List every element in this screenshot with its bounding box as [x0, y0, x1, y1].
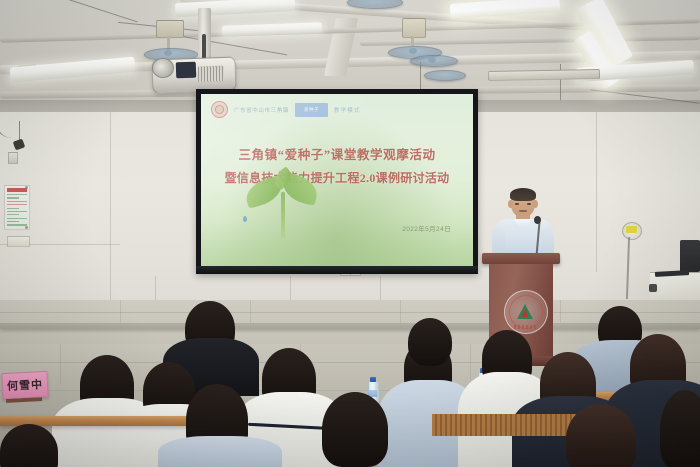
projector-panel	[176, 62, 197, 79]
notice-pin-bottom	[25, 226, 28, 229]
notice-pin-top	[25, 186, 28, 189]
wall-notice-poster	[4, 185, 30, 230]
projection-screen: 广东省中山市三角镇 爱种子 教学模式 三角镇“爱种子”课堂教学观摩活动 暨信息技…	[201, 94, 473, 266]
audience-head	[408, 318, 452, 366]
stage-edge	[0, 323, 700, 329]
audience-head	[660, 390, 700, 467]
wall-small-plate	[7, 236, 30, 247]
slide-title-line-1: 三角镇“爱种子”课堂教学观摩活动	[201, 144, 473, 163]
name-placard: 何雪中	[1, 371, 48, 399]
slide-badge: 爱种子	[295, 103, 328, 117]
wall-seam-1	[110, 112, 111, 300]
school-crest-icon	[504, 290, 548, 334]
notice-title-bar	[7, 188, 27, 192]
audience-head	[322, 392, 388, 467]
slide-header: 广东省中山市三角镇 爱种子 教学模式	[211, 101, 463, 118]
presenter-hair	[510, 188, 536, 201]
audience-head	[0, 424, 58, 467]
name-placard-text: 何雪中	[7, 376, 44, 394]
av-device	[649, 284, 657, 292]
audience-head	[566, 404, 636, 467]
lectern-top	[482, 253, 560, 264]
electrical-box-face	[626, 226, 637, 233]
projection-screen-bottom-bar	[196, 266, 478, 274]
bottle-cap	[370, 377, 376, 382]
wall-switch[interactable]	[8, 152, 18, 164]
audience-shoulder	[158, 436, 282, 467]
presenter	[492, 189, 554, 259]
wall-seam-2	[596, 112, 597, 272]
control-monitor	[680, 240, 700, 272]
slide-badge-secondary: 教学模式	[334, 106, 361, 114]
ceiling-speaker-box	[488, 69, 600, 81]
wall-cord	[19, 121, 20, 141]
slide-date: 2022年5月24日	[402, 223, 451, 233]
school-seal-icon	[211, 101, 228, 118]
slide-org-text: 广东省中山市三角镇	[234, 106, 289, 114]
projector-vent	[198, 66, 225, 83]
lecture-hall-photo: 广东省中山市三角镇 爱种子 教学模式 三角镇“爱种子”课堂教学观摩活动 暨信息技…	[0, 0, 700, 467]
projector-lens	[152, 58, 174, 78]
water-drop-icon	[243, 216, 247, 222]
lectern-cable	[0, 104, 16, 138]
sprout-seedling-icon	[239, 166, 325, 238]
desk-slats	[432, 414, 582, 436]
